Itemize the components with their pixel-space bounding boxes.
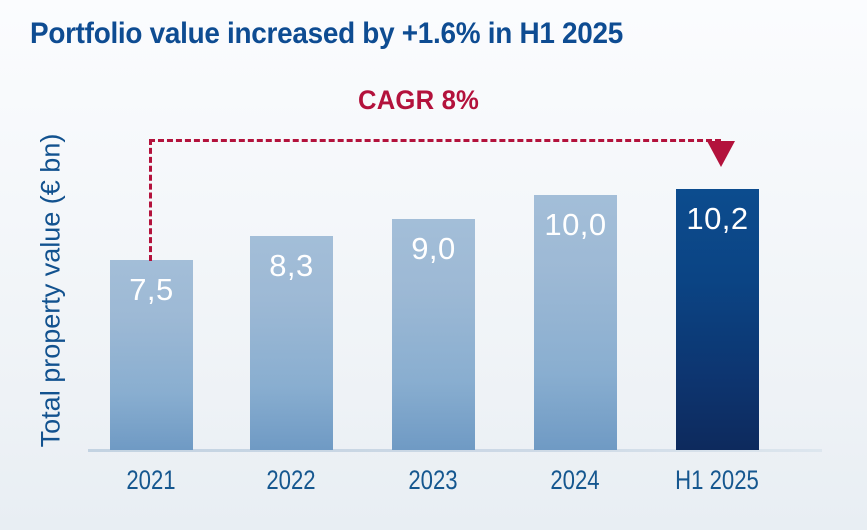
portfolio-value-bar-chart: Portfolio value increased by +1.6% in H1…: [0, 0, 867, 530]
bar-2022[interactable]: 8,3: [250, 236, 333, 450]
bar-value-label: 10,0: [534, 209, 617, 240]
bar-2024[interactable]: 10,0: [534, 195, 617, 450]
y-axis-title: Total property value (€ bn): [36, 106, 67, 476]
bar-h1-2025[interactable]: 10,2: [676, 189, 759, 450]
bar-value-label: 9,0: [392, 233, 475, 264]
bars-layer: 7,5 8,3 9,0 10,0 10,2: [88, 60, 822, 450]
bar-2023[interactable]: 9,0: [392, 219, 475, 450]
x-tick-2024: 2024: [526, 465, 624, 496]
bar-value-label: 10,2: [676, 203, 759, 234]
plot-area: 7,5 8,3 9,0 10,0 10,2: [88, 60, 822, 452]
bar-2021[interactable]: 7,5: [110, 260, 193, 450]
cagr-annotation-label: CAGR 8%: [358, 85, 479, 116]
x-tick-2021: 2021: [102, 465, 200, 496]
bar-value-label: 7,5: [110, 274, 193, 305]
x-tick-h1-2025: H1 2025: [668, 465, 766, 496]
bar-value-label: 8,3: [250, 250, 333, 281]
cagr-connector-horizontal: [149, 139, 721, 142]
cagr-arrow-down-icon: [707, 141, 735, 167]
x-tick-2023: 2023: [384, 465, 482, 496]
cagr-connector-vertical: [149, 139, 152, 261]
x-tick-2022: 2022: [242, 465, 340, 496]
x-axis-tick-labels: 2021 2022 2023 2024 H1 2025: [88, 465, 822, 505]
page-title: Portfolio value increased by +1.6% in H1…: [30, 17, 623, 51]
